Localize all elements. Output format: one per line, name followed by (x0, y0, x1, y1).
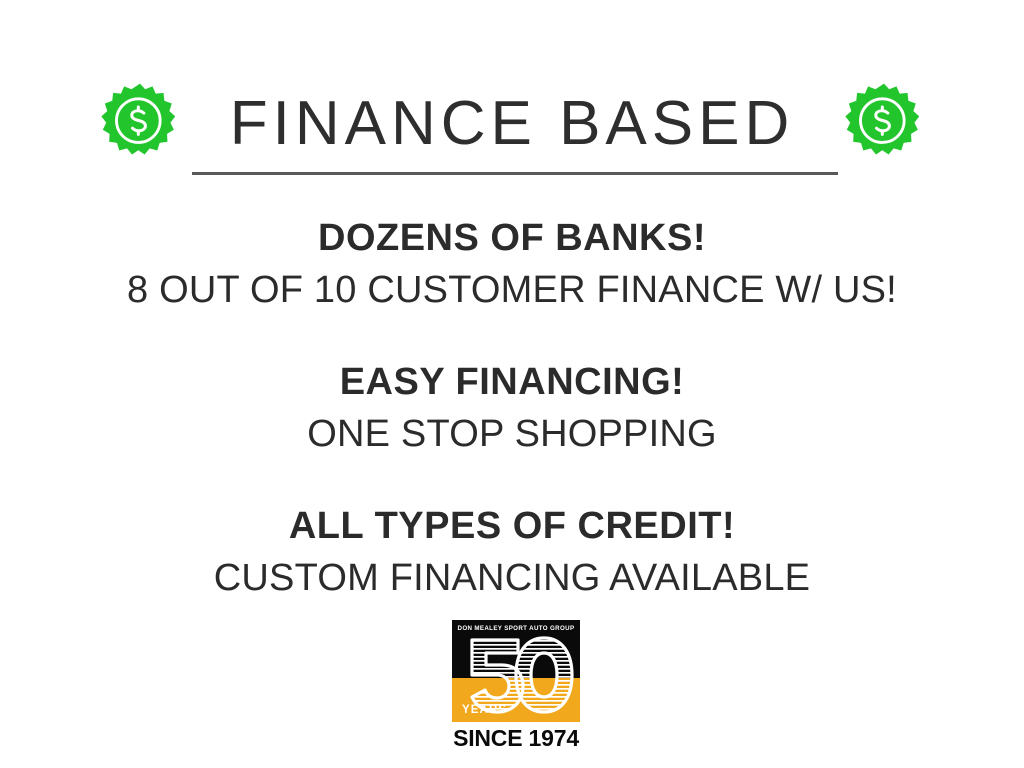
title-divider (192, 172, 838, 175)
headline-credit: ALL TYPES OF CREDIT! (0, 500, 1024, 552)
copy-block-banks: DOZENS OF BANKS! 8 OUT OF 10 CUSTOMER FI… (0, 212, 1024, 316)
page-title: FINANCE BASED (182, 91, 842, 157)
slide-header: FINANCE BASED (0, 76, 1024, 172)
copy-block-easy-financing: EASY FINANCING! ONE STOP SHOPPING (0, 356, 1024, 460)
copy-block-credit: ALL TYPES OF CREDIT! CUSTOM FINANCING AV… (0, 500, 1024, 604)
subline-easy-financing: ONE STOP SHOPPING (0, 408, 1024, 460)
slide-canvas: FINANCE BASED DOZENS OF BANKS! (0, 0, 1024, 768)
logo-since-text: SINCE 1974 (452, 725, 580, 752)
gear-dollar-icon-right (842, 82, 926, 166)
logo-mark: DON MEALEY SPORT AUTO GROUP (452, 620, 580, 722)
logo-brand-text: DON MEALEY SPORT AUTO GROUP (452, 625, 580, 632)
subline-banks: 8 OUT OF 10 CUSTOMER FINANCE W/ US! (0, 264, 1024, 316)
dealer-logo: DON MEALEY SPORT AUTO GROUP (452, 620, 580, 752)
page-title-wrap: FINANCE BASED (182, 91, 842, 157)
body-copy: DOZENS OF BANKS! 8 OUT OF 10 CUSTOMER FI… (0, 212, 1024, 604)
gear-dollar-icon-left (98, 82, 182, 166)
headline-easy-financing: EASY FINANCING! (0, 356, 1024, 408)
subline-credit: CUSTOM FINANCING AVAILABLE (0, 552, 1024, 604)
logo-years-label: YEARS (462, 704, 507, 716)
headline-banks: DOZENS OF BANKS! (0, 212, 1024, 264)
